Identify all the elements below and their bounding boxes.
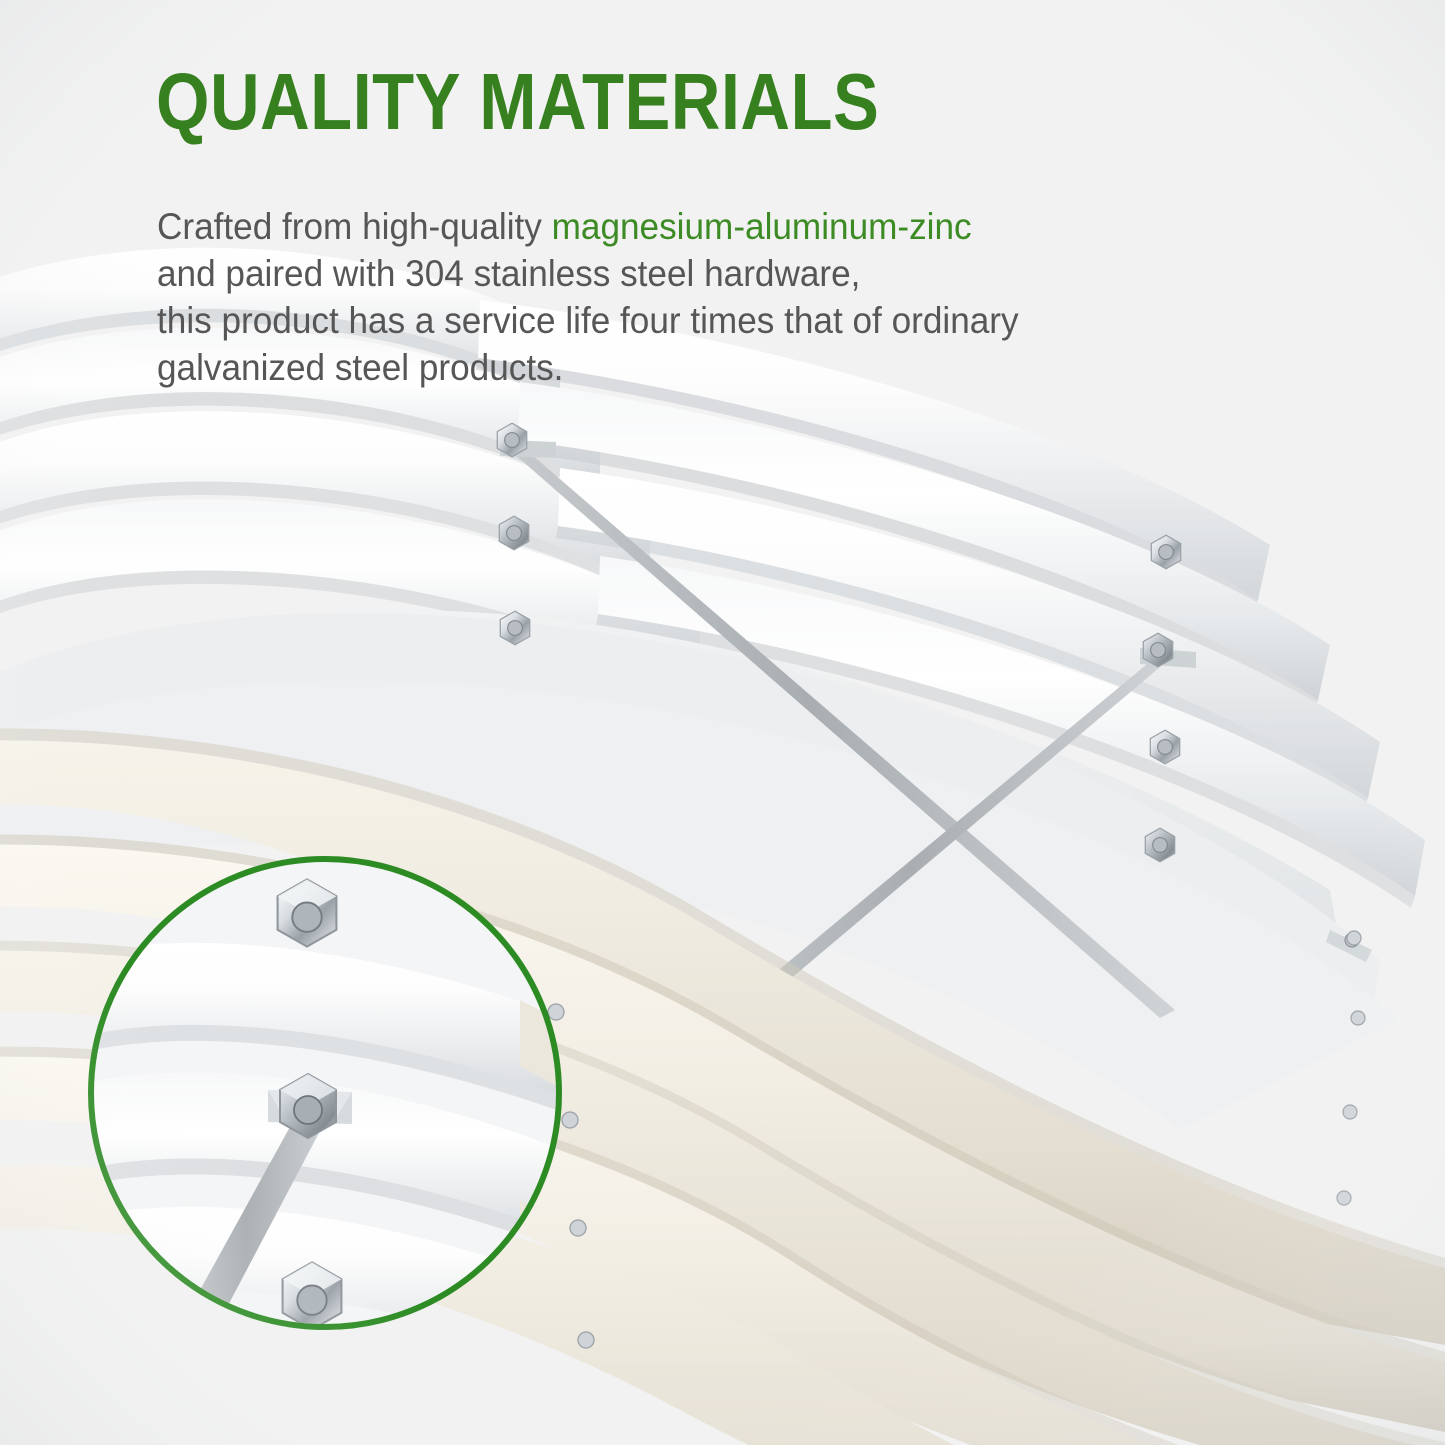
product-photo — [0, 0, 1445, 1445]
product-marketing-image: QUALITY MATERIALS Crafted from high-qual… — [0, 0, 1445, 1445]
